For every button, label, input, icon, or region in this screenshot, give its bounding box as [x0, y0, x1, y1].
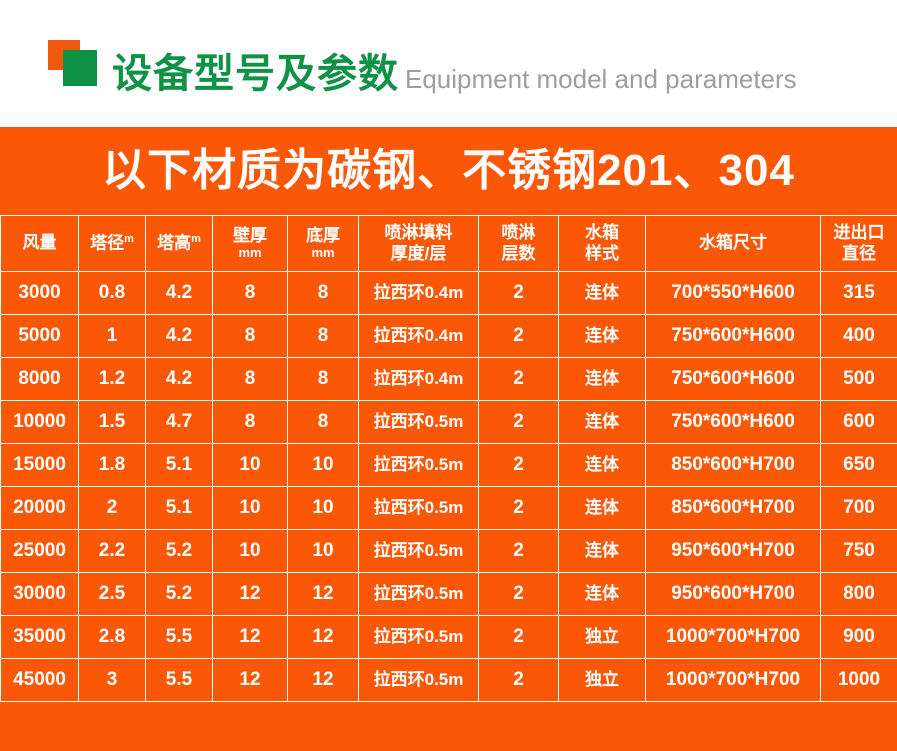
table-cell: 10000 [1, 401, 79, 444]
table-cell: 700*550*H600 [646, 272, 821, 315]
table-column-header-label: 水箱尺寸 [699, 233, 767, 252]
table-cell: 750 [821, 530, 897, 573]
table-column-header: 风量 [1, 216, 79, 272]
table-row: 250002.25.21010拉西环0.5m2连体950*600*H700750 [1, 530, 897, 573]
table-cell: 5000 [1, 315, 79, 358]
table-cell: 315 [821, 272, 897, 315]
table-cell: 2 [79, 487, 146, 530]
table-cell: 连体 [559, 444, 646, 487]
table-cell: 2 [479, 573, 559, 616]
table-cell: 8 [213, 358, 288, 401]
header-inner: 设备型号及参数 Equipment model and parameters [0, 40, 797, 94]
table-column-header-line2: 直径 [821, 244, 897, 264]
table-cell: 5.2 [146, 573, 213, 616]
table-cell: 12 [213, 573, 288, 616]
table-row: 350002.85.51212拉西环0.5m2独立1000*700*H70090… [1, 616, 897, 659]
table-cell: 20000 [1, 487, 79, 530]
table-cell: 2 [479, 315, 559, 358]
table-cell: 连体 [559, 530, 646, 573]
table-cell: 连体 [559, 272, 646, 315]
table-column-header-label: 塔径 [90, 234, 124, 253]
table-cell: 30000 [1, 573, 79, 616]
table-cell: 拉西环0.5m [359, 659, 479, 702]
table-cell: 0.8 [79, 272, 146, 315]
table-cell: 25000 [1, 530, 79, 573]
table-cell: 850*600*H700 [646, 444, 821, 487]
material-banner-text: 以下材质为碳钢、不锈钢201、304 [102, 149, 795, 193]
table-column-header-label: 壁厚 [233, 226, 267, 245]
table-cell: 750*600*H600 [646, 358, 821, 401]
table-column-header-label: 进出口 [834, 223, 885, 242]
table-cell: 12 [288, 616, 359, 659]
table-cell: 2 [479, 659, 559, 702]
table-cell: 5.1 [146, 487, 213, 530]
table-cell: 10 [288, 530, 359, 573]
table-row: 100001.54.788拉西环0.5m2连体750*600*H600600 [1, 401, 897, 444]
table-cell: 850*600*H700 [646, 487, 821, 530]
table-cell: 2 [479, 444, 559, 487]
table-cell: 3000 [1, 272, 79, 315]
table-cell: 连体 [559, 315, 646, 358]
table-cell: 8 [213, 315, 288, 358]
table-cell: 4.2 [146, 358, 213, 401]
table-row: 4500035.51212拉西环0.5m2独立1000*700*H7001000 [1, 659, 897, 702]
table-cell: 2 [479, 401, 559, 444]
table-cell: 独立 [559, 659, 646, 702]
table-column-header: 喷淋层数 [479, 216, 559, 272]
orange-body: 以下材质为碳钢、不锈钢201、304 风量塔径m塔高m壁厚mm底厚mm喷淋填料厚… [0, 127, 897, 751]
table-cell: 连体 [559, 573, 646, 616]
table-cell: 2.8 [79, 616, 146, 659]
table-cell: 独立 [559, 616, 646, 659]
table-cell: 4.2 [146, 315, 213, 358]
table-cell: 10 [213, 444, 288, 487]
spec-sheet-page: 设备型号及参数 Equipment model and parameters 以… [0, 0, 897, 751]
section-header: 设备型号及参数 Equipment model and parameters [0, 0, 897, 127]
table-cell: 拉西环0.4m [359, 358, 479, 401]
table-cell: 拉西环0.5m [359, 401, 479, 444]
table-cell: 1.5 [79, 401, 146, 444]
table-cell: 8 [213, 401, 288, 444]
table-wrap: 风量塔径m塔高m壁厚mm底厚mm喷淋填料厚度/层喷淋层数水箱样式水箱尺寸进出口直… [0, 215, 897, 751]
table-column-unit: m [191, 233, 201, 245]
table-cell: 5.5 [146, 659, 213, 702]
table-cell: 1000*700*H700 [646, 659, 821, 702]
page-title: 设备型号及参数 [112, 54, 399, 94]
table-cell: 3 [79, 659, 146, 702]
table-column-header-label: 风量 [23, 233, 57, 252]
table-cell: 12 [213, 616, 288, 659]
table-cell: 2.5 [79, 573, 146, 616]
table-column-header-label: 水箱 [585, 223, 619, 242]
table-cell: 950*600*H700 [646, 573, 821, 616]
table-cell: 2 [479, 530, 559, 573]
table-cell: 拉西环0.4m [359, 272, 479, 315]
table-cell: 650 [821, 444, 897, 487]
table-column-header: 壁厚mm [213, 216, 288, 272]
table-cell: 8000 [1, 358, 79, 401]
table-cell: 拉西环0.5m [359, 444, 479, 487]
table-cell: 5.5 [146, 616, 213, 659]
table-cell: 5.2 [146, 530, 213, 573]
specification-table: 风量塔径m塔高m壁厚mm底厚mm喷淋填料厚度/层喷淋层数水箱样式水箱尺寸进出口直… [0, 215, 897, 702]
table-cell: 12 [213, 659, 288, 702]
table-cell: 拉西环0.5m [359, 487, 479, 530]
page-subtitle: Equipment model and parameters [405, 66, 797, 92]
table-row: 30000.84.288拉西环0.4m2连体700*550*H600315 [1, 272, 897, 315]
table-cell: 950*600*H700 [646, 530, 821, 573]
table-cell: 8 [288, 358, 359, 401]
table-cell: 10 [213, 487, 288, 530]
table-header: 风量塔径m塔高m壁厚mm底厚mm喷淋填料厚度/层喷淋层数水箱样式水箱尺寸进出口直… [1, 216, 897, 272]
table-column-unit: m [124, 233, 134, 245]
table-cell: 1.2 [79, 358, 146, 401]
table-cell: 600 [821, 401, 897, 444]
table-cell: 2 [479, 616, 559, 659]
table-row: 2000025.11010拉西环0.5m2连体850*600*H700700 [1, 487, 897, 530]
table-cell: 拉西环0.5m [359, 616, 479, 659]
table-cell: 1 [79, 315, 146, 358]
table-cell: 连体 [559, 401, 646, 444]
table-column-header: 塔径m [79, 216, 146, 272]
table-cell: 1.8 [79, 444, 146, 487]
table-cell: 2 [479, 487, 559, 530]
table-column-header: 进出口直径 [821, 216, 897, 272]
table-column-header-line2: 样式 [559, 244, 645, 264]
table-cell: 900 [821, 616, 897, 659]
table-column-unit: mm [288, 246, 358, 261]
green-square-icon [63, 50, 97, 86]
table-cell: 750*600*H600 [646, 401, 821, 444]
table-cell: 500 [821, 358, 897, 401]
table-column-header-label: 塔高 [157, 234, 191, 253]
table-cell: 35000 [1, 616, 79, 659]
table-cell: 拉西环0.5m [359, 573, 479, 616]
table-row: 500014.288拉西环0.4m2连体750*600*H600400 [1, 315, 897, 358]
table-cell: 45000 [1, 659, 79, 702]
table-column-header-line2: 层数 [479, 244, 558, 264]
table-cell: 12 [288, 659, 359, 702]
table-row: 80001.24.288拉西环0.4m2连体750*600*H600500 [1, 358, 897, 401]
table-cell: 10 [288, 444, 359, 487]
table-column-header: 水箱尺寸 [646, 216, 821, 272]
table-cell: 700 [821, 487, 897, 530]
table-cell: 15000 [1, 444, 79, 487]
table-column-header-label: 喷淋填料 [385, 223, 453, 242]
table-row: 150001.85.11010拉西环0.5m2连体850*600*H700650 [1, 444, 897, 487]
table-column-header: 水箱样式 [559, 216, 646, 272]
table-cell: 4.2 [146, 272, 213, 315]
table-column-header-line2: 厚度/层 [359, 244, 478, 264]
table-cell: 12 [288, 573, 359, 616]
table-cell: 1000*700*H700 [646, 616, 821, 659]
table-cell: 拉西环0.4m [359, 315, 479, 358]
table-cell: 750*600*H600 [646, 315, 821, 358]
table-cell: 1000 [821, 659, 897, 702]
table-column-unit: mm [213, 246, 287, 261]
table-column-header: 塔高m [146, 216, 213, 272]
table-body: 30000.84.288拉西环0.4m2连体700*550*H600315500… [1, 272, 897, 702]
table-cell: 4.7 [146, 401, 213, 444]
logo-mark [48, 40, 104, 88]
table-cell: 8 [288, 315, 359, 358]
table-column-header: 底厚mm [288, 216, 359, 272]
table-cell: 10 [213, 530, 288, 573]
table-cell: 2 [479, 358, 559, 401]
table-column-header-label: 喷淋 [502, 223, 536, 242]
table-column-header: 喷淋填料厚度/层 [359, 216, 479, 272]
table-cell: 2 [479, 272, 559, 315]
table-column-header-label: 底厚 [306, 226, 340, 245]
table-cell: 10 [288, 487, 359, 530]
table-cell: 400 [821, 315, 897, 358]
table-cell: 连体 [559, 358, 646, 401]
material-banner: 以下材质为碳钢、不锈钢201、304 [0, 127, 897, 215]
table-cell: 2.2 [79, 530, 146, 573]
table-header-row: 风量塔径m塔高m壁厚mm底厚mm喷淋填料厚度/层喷淋层数水箱样式水箱尺寸进出口直… [1, 216, 897, 272]
table-cell: 拉西环0.5m [359, 530, 479, 573]
table-cell: 5.1 [146, 444, 213, 487]
table-row: 300002.55.21212拉西环0.5m2连体950*600*H700800 [1, 573, 897, 616]
table-cell: 8 [288, 272, 359, 315]
table-cell: 800 [821, 573, 897, 616]
table-cell: 连体 [559, 487, 646, 530]
bottom-fill [0, 702, 897, 751]
table-cell: 8 [213, 272, 288, 315]
table-cell: 8 [288, 401, 359, 444]
